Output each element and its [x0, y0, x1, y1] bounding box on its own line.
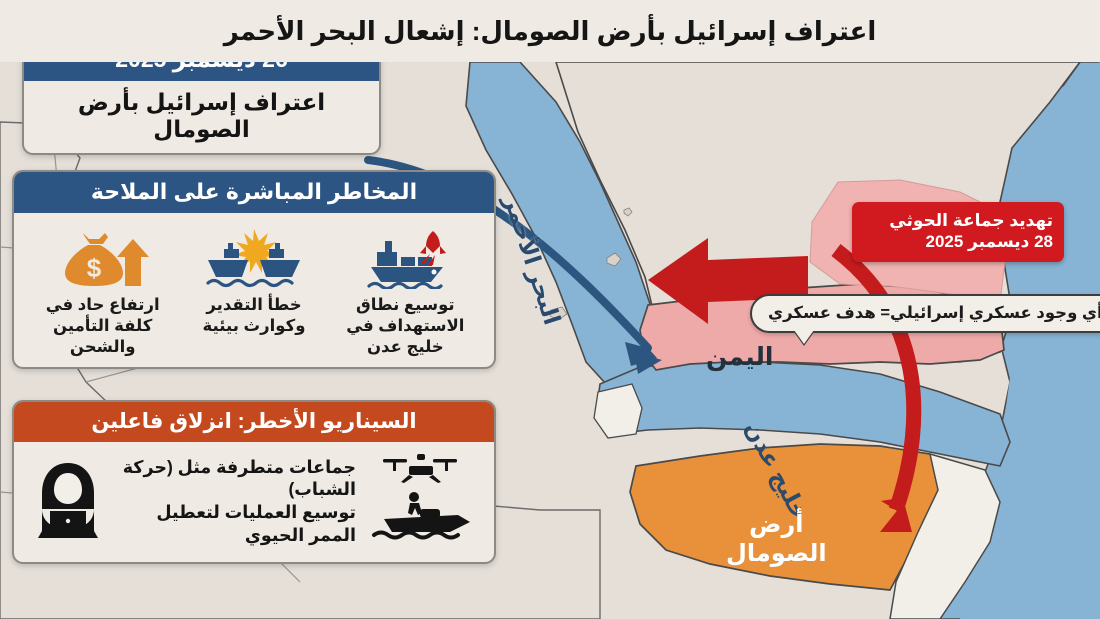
military-presence-speech-bubble: أي وجود عسكري إسرائيلي= هدف عسكري: [750, 294, 1100, 333]
risks-card-header: المخاطر المباشرة على الملاحة: [14, 172, 494, 213]
risk-item: خطأ التقدير وكوارث بيئية: [179, 225, 328, 357]
scenario-card-body: جماعات متطرفة مثل (حركة الشباب) توسيع ال…: [14, 442, 494, 562]
risk-item: توسيع نطاق الاستهداف في خليج عدن: [331, 225, 480, 357]
scenario-left-icons: [366, 452, 478, 550]
navigation-risks-card: المخاطر المباشرة على الملاحة: [12, 170, 496, 369]
speech-bubble-tail: [794, 330, 814, 344]
speech-bubble-text: أي وجود عسكري إسرائيلي= هدف عسكري: [768, 304, 1100, 322]
speedboat-glyph: [366, 489, 478, 545]
risk-item: $ ارتفاع حاد في كلفة التأمين والشحن: [28, 225, 177, 357]
scenario-text-line1: جماعات متطرفة مثل (حركة الشباب): [116, 456, 356, 502]
ship-collision-icon: [202, 225, 306, 289]
risks-row: توسيع نطاق الاستهداف في خليج عدن: [26, 221, 482, 357]
hacker-face: [54, 473, 82, 504]
risk-item-label: ارتفاع حاد في كلفة التأمين والشحن: [28, 295, 177, 357]
map-label-yemen: اليمن: [706, 342, 773, 372]
map-label-somaliland: أرض الصومال: [726, 510, 827, 569]
drone-glyph: [379, 452, 465, 484]
scenario-text: جماعات متطرفة مثل (حركة الشباب) توسيع ال…: [116, 456, 356, 547]
hooded-hacker-icon: [30, 459, 106, 544]
infographic-stage: البحر الأحمر اليمن خليج عدن أرض الصومال …: [0, 0, 1100, 619]
page-title: اعتراف إسرائيل بأرض الصومال: إشعال البحر…: [224, 16, 877, 47]
date-card-body: اعتراف إسرائيل بأرض الصومال: [24, 81, 379, 153]
risk-item-label: خطأ التقدير وكوارث بيئية: [179, 295, 328, 337]
money-bag-up-arrow-icon: $: [53, 225, 153, 289]
map-label-somaliland-line2: الصومال: [726, 539, 827, 568]
ship-missile-glyph: [355, 227, 455, 289]
svg-text:$: $: [86, 253, 101, 283]
houthi-badge-line1: تهديد جماعة الحوثي: [863, 210, 1053, 231]
ship-missile-icon: [355, 225, 455, 289]
scenario-card-header: السيناريو الأخطر: انزلاق فاعلين: [14, 402, 494, 442]
drone-icon: [379, 452, 465, 489]
risk-item-label: توسيع نطاق الاستهداف في خليج عدن: [331, 295, 480, 357]
houthi-badge-line2: 28 ديسمبر 2025: [863, 231, 1053, 252]
worst-scenario-card: السيناريو الأخطر: انزلاق فاعلين: [12, 400, 496, 564]
title-bar: اعتراف إسرائيل بأرض الصومال: إشعال البحر…: [0, 0, 1100, 62]
scenario-row: جماعات متطرفة مثل (حركة الشباب) توسيع ال…: [26, 450, 482, 552]
scenario-text-line2: توسيع العمليات لتعطيل الممر الحيوي: [116, 501, 356, 547]
money-bag-arrow-glyph: $: [53, 227, 153, 289]
hooded-hacker-glyph: [30, 459, 106, 539]
map-label-somaliland-line1: أرض: [726, 510, 827, 539]
risks-card-body: توسيع نطاق الاستهداف في خليج عدن: [14, 213, 494, 367]
speedboat-icon: [366, 489, 478, 550]
houthi-threat-badge: تهديد جماعة الحوثي 28 ديسمبر 2025: [852, 202, 1064, 262]
ship-collision-glyph: [202, 227, 306, 289]
